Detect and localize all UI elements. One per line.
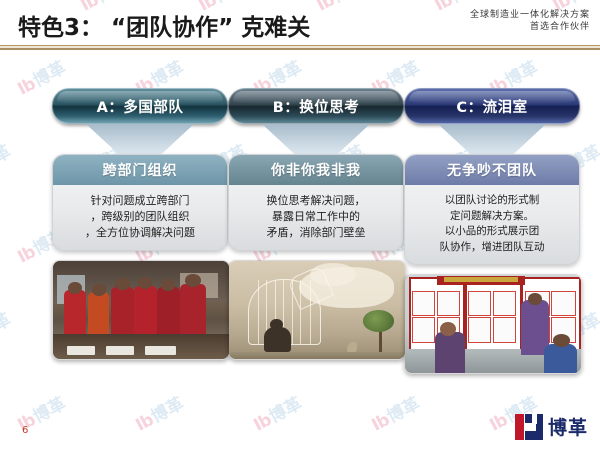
company-logo: 博革 <box>515 413 588 440</box>
slide-canvas: Ib博革Ib博革Ib博革Ib博革Ib博革Ib博革Ib博革Ib博革Ib博革Ib博革… <box>0 0 600 450</box>
photo-team-red-vests <box>52 260 230 360</box>
chevron-down-icon-a <box>52 124 228 154</box>
brand-mark-icon <box>515 414 543 440</box>
content-card-b: 你非你我非我 换位思考解决问题， 暴露日常工作中的 矛盾，消除部门壁垒 <box>228 154 404 251</box>
column-c: C：流泪室 无争吵不团队 以团队讨论的形式制 定问题解决方案。 以小品的形式展示… <box>404 88 580 374</box>
pill-label-a: A：多国部队 <box>97 96 184 117</box>
pill-header-a[interactable]: A：多国部队 <box>52 88 228 124</box>
content-card-c: 无争吵不团队 以团队讨论的形式制 定问题解决方案。 以小品的形式展示团 队协作，… <box>404 154 580 265</box>
logo-wordmark: 博革 <box>548 413 588 440</box>
watermark-tile: Ib博革 <box>366 389 423 435</box>
page-title: 特色3： “团队协作” 克难关 <box>18 8 310 42</box>
pill-header-b[interactable]: B：换位思考 <box>228 88 404 124</box>
column-b: B：换位思考 你非你我非我 换位思考解决问题， 暴露日常工作中的 矛盾，消除部门… <box>228 88 404 360</box>
column-a: A：多国部队 跨部门组织 针对问题成立跨部门 ，跨级别的团队组织 ，全方位协调解… <box>52 88 228 360</box>
pill-label-b: B：换位思考 <box>273 96 360 117</box>
watermark-tile: Ib博革 <box>12 389 69 435</box>
watermark-tile: Ib博革 <box>248 389 305 435</box>
slide-header: 特色3： “团队协作” 克难关 全球制造业一体化解决方案 首选合作伙伴 <box>0 0 600 52</box>
pill-header-c[interactable]: C：流泪室 <box>404 88 580 124</box>
photo-presentation-boards <box>404 274 582 374</box>
tagline-line-1: 全球制造业一体化解决方案 <box>470 9 590 21</box>
photo-birdcage-dream <box>228 260 406 360</box>
card-body-c: 以团队讨论的形式制 定问题解决方案。 以小品的形式展示团 队协作，增进团队互动 <box>405 185 579 264</box>
card-body-b: 换位思考解决问题， 暴露日常工作中的 矛盾，消除部门壁垒 <box>229 185 403 250</box>
card-title-a: 跨部门组织 <box>53 155 227 185</box>
card-title-c: 无争吵不团队 <box>405 155 579 185</box>
page-number: 6 <box>22 425 28 436</box>
content-card-a: 跨部门组织 针对问题成立跨部门 ，跨级别的团队组织 ，全方位协调解决问题 <box>52 154 228 251</box>
brand-tagline: 全球制造业一体化解决方案 首选合作伙伴 <box>470 9 590 33</box>
chevron-down-icon-c <box>404 124 580 154</box>
watermark-tile: Ib博革 <box>0 305 14 351</box>
watermark-tile: Ib博革 <box>130 389 187 435</box>
pill-label-c: C：流泪室 <box>456 96 527 117</box>
card-title-b: 你非你我非我 <box>229 155 403 185</box>
chevron-down-icon-b <box>228 124 404 154</box>
watermark-tile: Ib博革 <box>0 137 14 183</box>
tagline-line-2: 首选合作伙伴 <box>470 21 590 33</box>
title-divider <box>0 45 600 50</box>
card-body-a: 针对问题成立跨部门 ，跨级别的团队组织 ，全方位协调解决问题 <box>53 185 227 250</box>
